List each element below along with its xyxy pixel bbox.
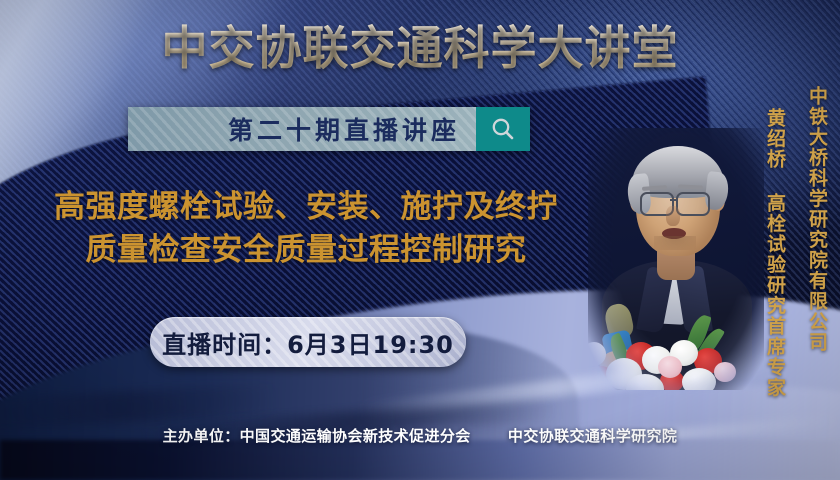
subtitle-label: 第二十期直播讲座 — [228, 111, 460, 147]
footer-organizer-primary: 主办单位：中国交通运输协会新技术促进分会 — [163, 427, 471, 445]
speaker-chin-shadow — [654, 236, 696, 250]
flower-bouquet — [588, 324, 764, 390]
subtitle-bar: 第二十期直播讲座 — [128, 107, 530, 151]
search-button[interactable] — [476, 107, 530, 151]
speaker-organization: 中铁大桥科学研究院有限公司 — [807, 86, 826, 353]
footer-organizer-secondary: 中交协联交通科学研究院 — [508, 427, 677, 445]
speaker-photo-inner — [588, 128, 764, 390]
livestream-time-label: 直播时间：6月3日19:30 — [162, 325, 454, 360]
poster-bottom-edge — [0, 440, 840, 480]
search-icon — [490, 116, 516, 142]
glasses-lens-right-icon — [676, 192, 710, 216]
flower-pink — [658, 356, 682, 378]
speaker-nose — [666, 206, 680, 226]
footer-organizers: 主办单位：中国交通运输协会新技术促进分会 中交协联交通科学研究院 — [0, 425, 840, 446]
subtitle-bar-body: 第二十期直播讲座 — [128, 107, 476, 151]
glasses-bridge-icon — [670, 199, 678, 201]
livestream-poster: 中交协联交通科学大讲堂 第二十期直播讲座 高强度螺栓试验、安装、施拧及终拧 质量… — [0, 0, 840, 480]
flower-white — [682, 368, 716, 390]
flower-pink — [714, 362, 736, 382]
page-title: 中交协联交通科学大讲堂 — [0, 20, 840, 76]
flower-white — [588, 342, 606, 366]
speaker-name-role: 黄绍桥 高栓试验研究首席专家 — [765, 108, 784, 398]
headline-line-2: 质量检查安全质量过程控制研究 — [8, 229, 604, 272]
speaker-photo — [588, 128, 764, 390]
lecture-headline: 高强度螺栓试验、安装、施拧及终拧 质量检查安全质量过程控制研究 — [8, 186, 604, 272]
livestream-time-badge: 直播时间：6月3日19:30 — [150, 317, 466, 367]
headline-line-1: 高强度螺栓试验、安装、施拧及终拧 — [54, 189, 558, 225]
